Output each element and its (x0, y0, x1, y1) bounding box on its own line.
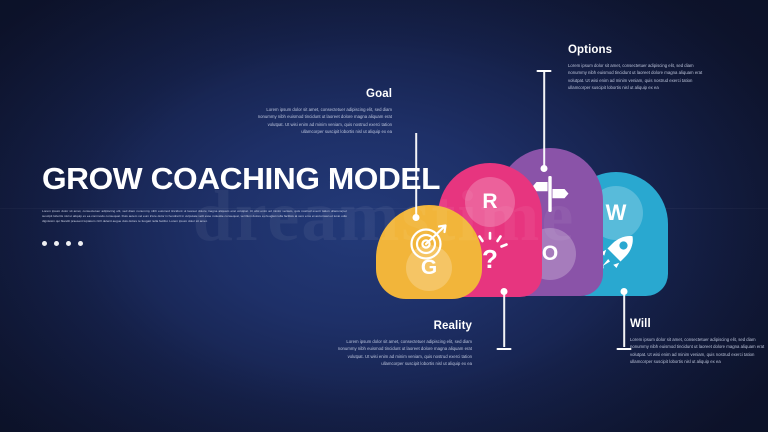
label-block-will: Will Lorem ipsum dolor sit amet, consect… (630, 318, 766, 366)
connector-dot (541, 165, 548, 172)
stage-letter-goal: G (406, 245, 452, 291)
label-body-will: Lorem ipsum dolor sit amet, consectetuer… (630, 336, 766, 366)
dot-3 (66, 241, 71, 246)
label-body-reality: Lorem ipsum dolor sit amet, consectetuer… (336, 338, 472, 368)
label-body-goal: Lorem ipsum dolor sit amet, consectetuer… (256, 106, 392, 136)
connector-stem (623, 292, 625, 347)
svg-text:?: ? (482, 244, 498, 274)
label-block-reality: Reality Lorem ipsum dolor sit amet, cons… (336, 320, 472, 368)
connector-options (536, 70, 552, 172)
connector-reality (496, 288, 512, 350)
label-heading-reality: Reality (336, 320, 472, 332)
page-title: GROW COACHING MODEL (42, 163, 368, 195)
label-block-goal: Goal Lorem ipsum dolor sit amet, consect… (256, 88, 392, 136)
label-block-options: Options Lorem ipsum dolor sit amet, cons… (568, 44, 704, 92)
title-block: GROW COACHING MODEL Lorem ipsum dolor si… (42, 163, 362, 246)
label-heading-options: Options (568, 44, 704, 56)
connector-cap (497, 348, 512, 350)
connector-dot (413, 214, 420, 221)
decorative-dots (42, 241, 362, 246)
connector-stem (415, 133, 417, 215)
intro-paragraph: Lorem ipsum dolor sit amet, consectetuer… (42, 209, 347, 224)
connector-stem (543, 72, 545, 166)
infographic-canvas: dreamstime GROW COACHING MODEL Lorem ips… (0, 0, 768, 432)
dot-2 (54, 241, 59, 246)
dot-1 (42, 241, 47, 246)
label-heading-will: Will (630, 318, 766, 330)
dot-4 (78, 241, 83, 246)
label-body-options: Lorem ipsum dolor sit amet, consectetuer… (568, 62, 704, 92)
connector-goal (408, 133, 424, 221)
stage-letter-reality: R (465, 177, 515, 227)
label-heading-goal: Goal (256, 88, 392, 100)
connector-stem (503, 292, 505, 347)
